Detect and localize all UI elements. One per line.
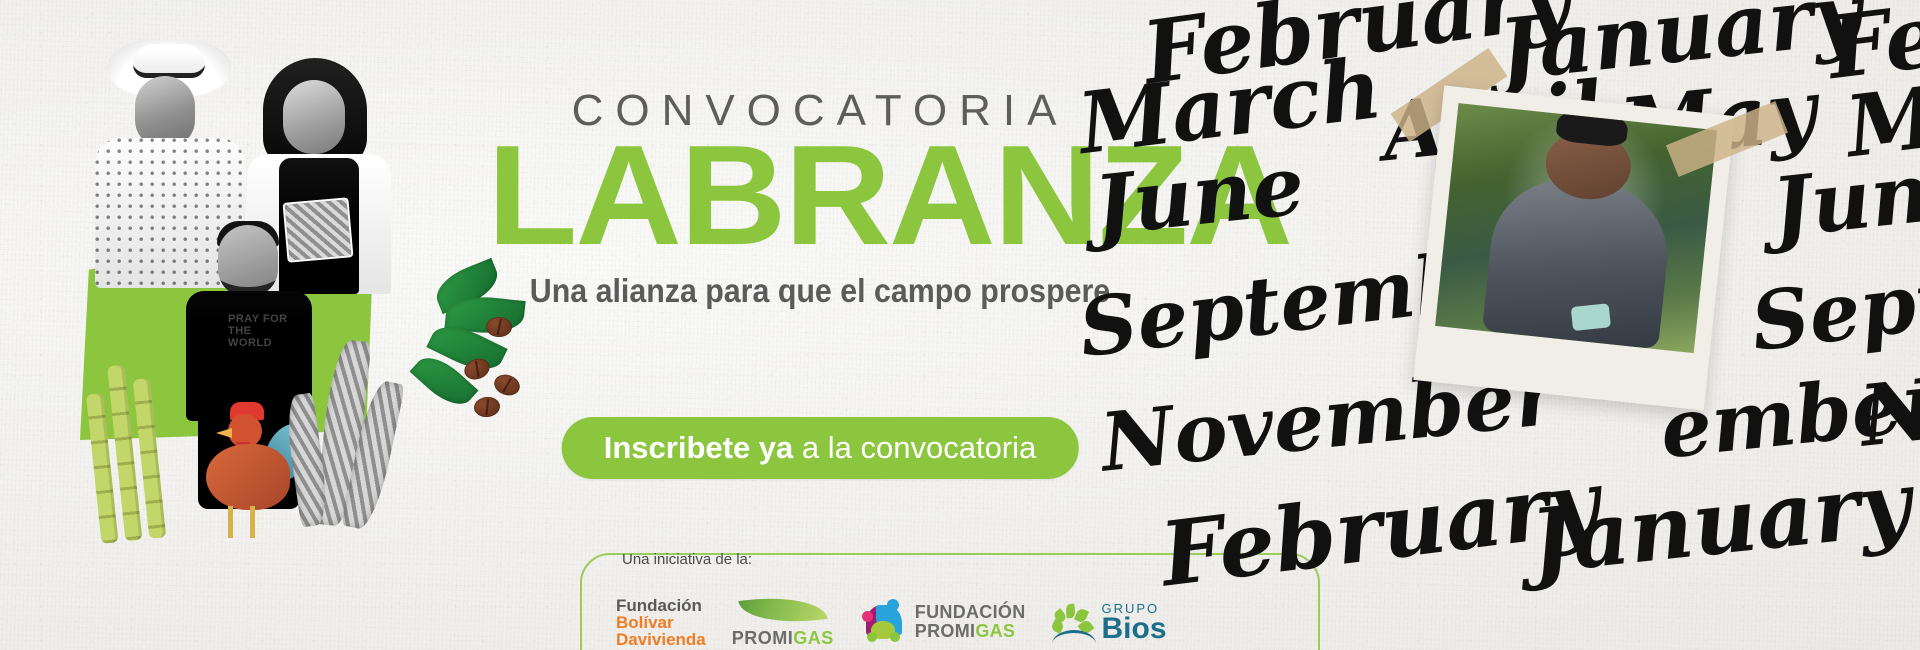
logo-promigas[interactable]: PROMIGAS [732,595,834,649]
cta-rest-label: a la convocatoria [793,430,1036,465]
fbd-line-2: Bolívar [616,614,706,631]
cta-strong-label: Inscribete ya [604,430,794,465]
promigas-word-dark: PROMI [732,628,794,648]
coffee-bean [473,396,501,419]
tshirt-text: PRAY FOR THE WORLD [228,313,290,349]
fundacion-promigas-people-icon [860,599,906,645]
promigas-word-green: GAS [793,628,834,648]
script-month-word: June [1090,137,1309,254]
inscribete-cta-button[interactable]: Inscribete ya a la convocatoria [562,417,1079,479]
woman-face [283,80,345,154]
fp-line-2: PROMIGAS [915,622,1026,641]
page-title: LABRANZA [487,130,1153,262]
tagline-text: Una alianza para que el campo prospere [526,272,1115,310]
sugar-cane-illustration [81,356,187,544]
fp-line-1: FUNDACIÓN [915,603,1026,622]
fbd-line-3: Davivienda [616,631,706,648]
fbd-line-1: Fundación [616,597,706,614]
fundacion-promigas-wordmark: FUNDACIÓN PROMIGAS [915,603,1026,641]
campaign-banner: PRAY FOR THE WORLD [0,0,1920,650]
young-man-face [218,225,278,297]
smartphone-icon [1571,303,1611,331]
left-photo-collage: PRAY FOR THE WORLD [60,10,500,540]
fp-word-dark: PROMI [915,621,976,641]
fp-word-green: GAS [975,621,1015,641]
promigas-leaf-icon [738,589,827,631]
rooster-leg-right [250,506,255,538]
polaroid-photo-farmer-woman [1413,86,1734,411]
calligraphy-panel: FebruaryJanuaryFebMarchAprilMayMarJuneJu… [1060,0,1920,650]
logo-fundacion-bolivar-davivienda[interactable]: Fundación Bolívar Davivienda [616,597,706,648]
sponsors-intro-label: Una iniciativa de la: [622,551,752,568]
promigas-wordmark: PROMIGAS [732,628,834,649]
rooster-beak [216,428,232,438]
rooster-leg-left [228,506,233,538]
rooster-body [206,444,290,510]
script-month-word: No [1855,353,1920,465]
logo-fundacion-promigas[interactable]: FUNDACIÓN PROMIGAS [860,599,1026,645]
